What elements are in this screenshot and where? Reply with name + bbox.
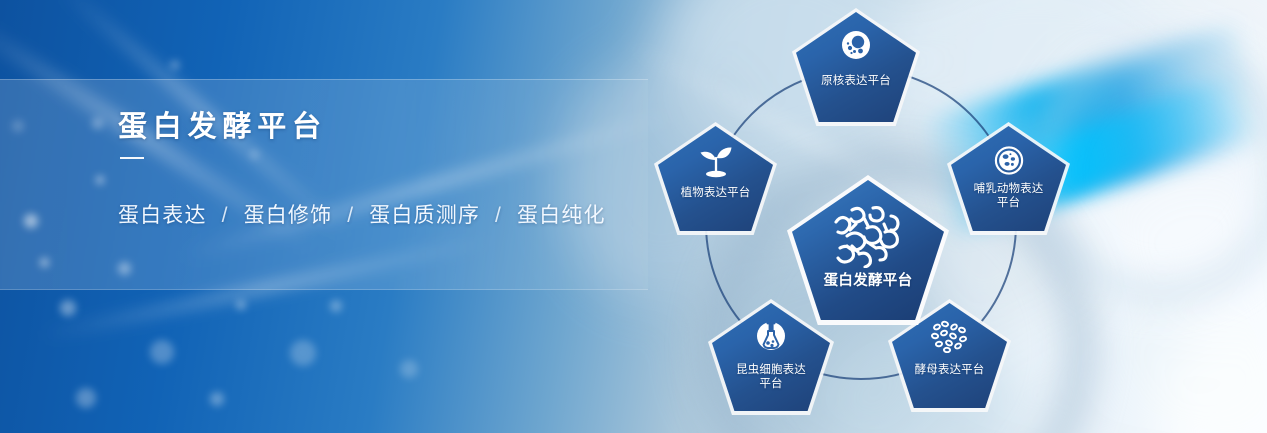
petri-dish-icon [992,144,1025,177]
subtitle-item-1: 蛋白表达 [118,204,207,227]
headline-band-bottom-edge [0,289,648,290]
title-underline-rule [120,157,144,159]
node-label: 蛋白发酵平台 [792,272,944,290]
node-label: 酵母表达平台 [892,363,1007,377]
pentagon-body: 植物表达平台 [658,126,773,231]
node-label-line-2: 平台 [759,378,782,390]
node-label: 昆虫细胞表达 平台 [712,363,830,392]
node-protein-fermentation-center[interactable]: 蛋白发酵平台 [792,180,944,320]
subtitle-item-4: 蛋白纯化 [517,204,606,227]
node-label: 植物表达平台 [658,186,773,200]
subtitle-separator-1: / [214,204,237,227]
banner-stage: 蛋白发酵平台 蛋白表达 / 蛋白修饰 / 蛋白质测序 / 蛋白纯化 [0,0,1267,433]
node-prokaryotic-expression[interactable]: 原核表达平台 [796,12,916,122]
subtitle-separator-2: / [339,204,362,227]
pentagon-body: 原核表达平台 [796,12,916,122]
node-label: 哺乳动物表达 平台 [951,182,1066,211]
node-label-line-1: 哺乳动物表达 [974,183,1044,195]
sprout-icon [695,144,737,178]
bacteria-cell-icon [839,28,873,62]
banner-subtitle: 蛋白表达 / 蛋白修饰 / 蛋白质测序 / 蛋白纯化 [118,199,658,229]
pentagon-body: 哺乳动物表达 平台 [951,126,1066,231]
platform-diagram: 原核表达平台 哺乳动物表达 [640,0,1080,433]
headline-band-top-edge [0,79,648,80]
protein-structure-icon [826,202,910,268]
banner-copy: 蛋白发酵平台 蛋白表达 / 蛋白修饰 / 蛋白质测序 / 蛋白纯化 [118,112,658,229]
subtitle-item-3: 蛋白质测序 [369,204,480,227]
yeast-cells-icon [928,319,972,353]
pentagon-body: 蛋白发酵平台 [792,180,944,320]
node-label-line-1: 昆虫细胞表达 [736,364,806,376]
subtitle-separator-3: / [487,204,510,227]
subtitle-item-2: 蛋白修饰 [244,204,333,227]
node-plant-expression[interactable]: 植物表达平台 [658,126,773,231]
flask-cells-icon [754,318,788,354]
node-label-line-2: 平台 [997,197,1020,209]
page-title: 蛋白发酵平台 [118,112,658,144]
node-mammalian-expression[interactable]: 哺乳动物表达 平台 [951,126,1066,231]
node-label: 原核表达平台 [796,74,916,88]
